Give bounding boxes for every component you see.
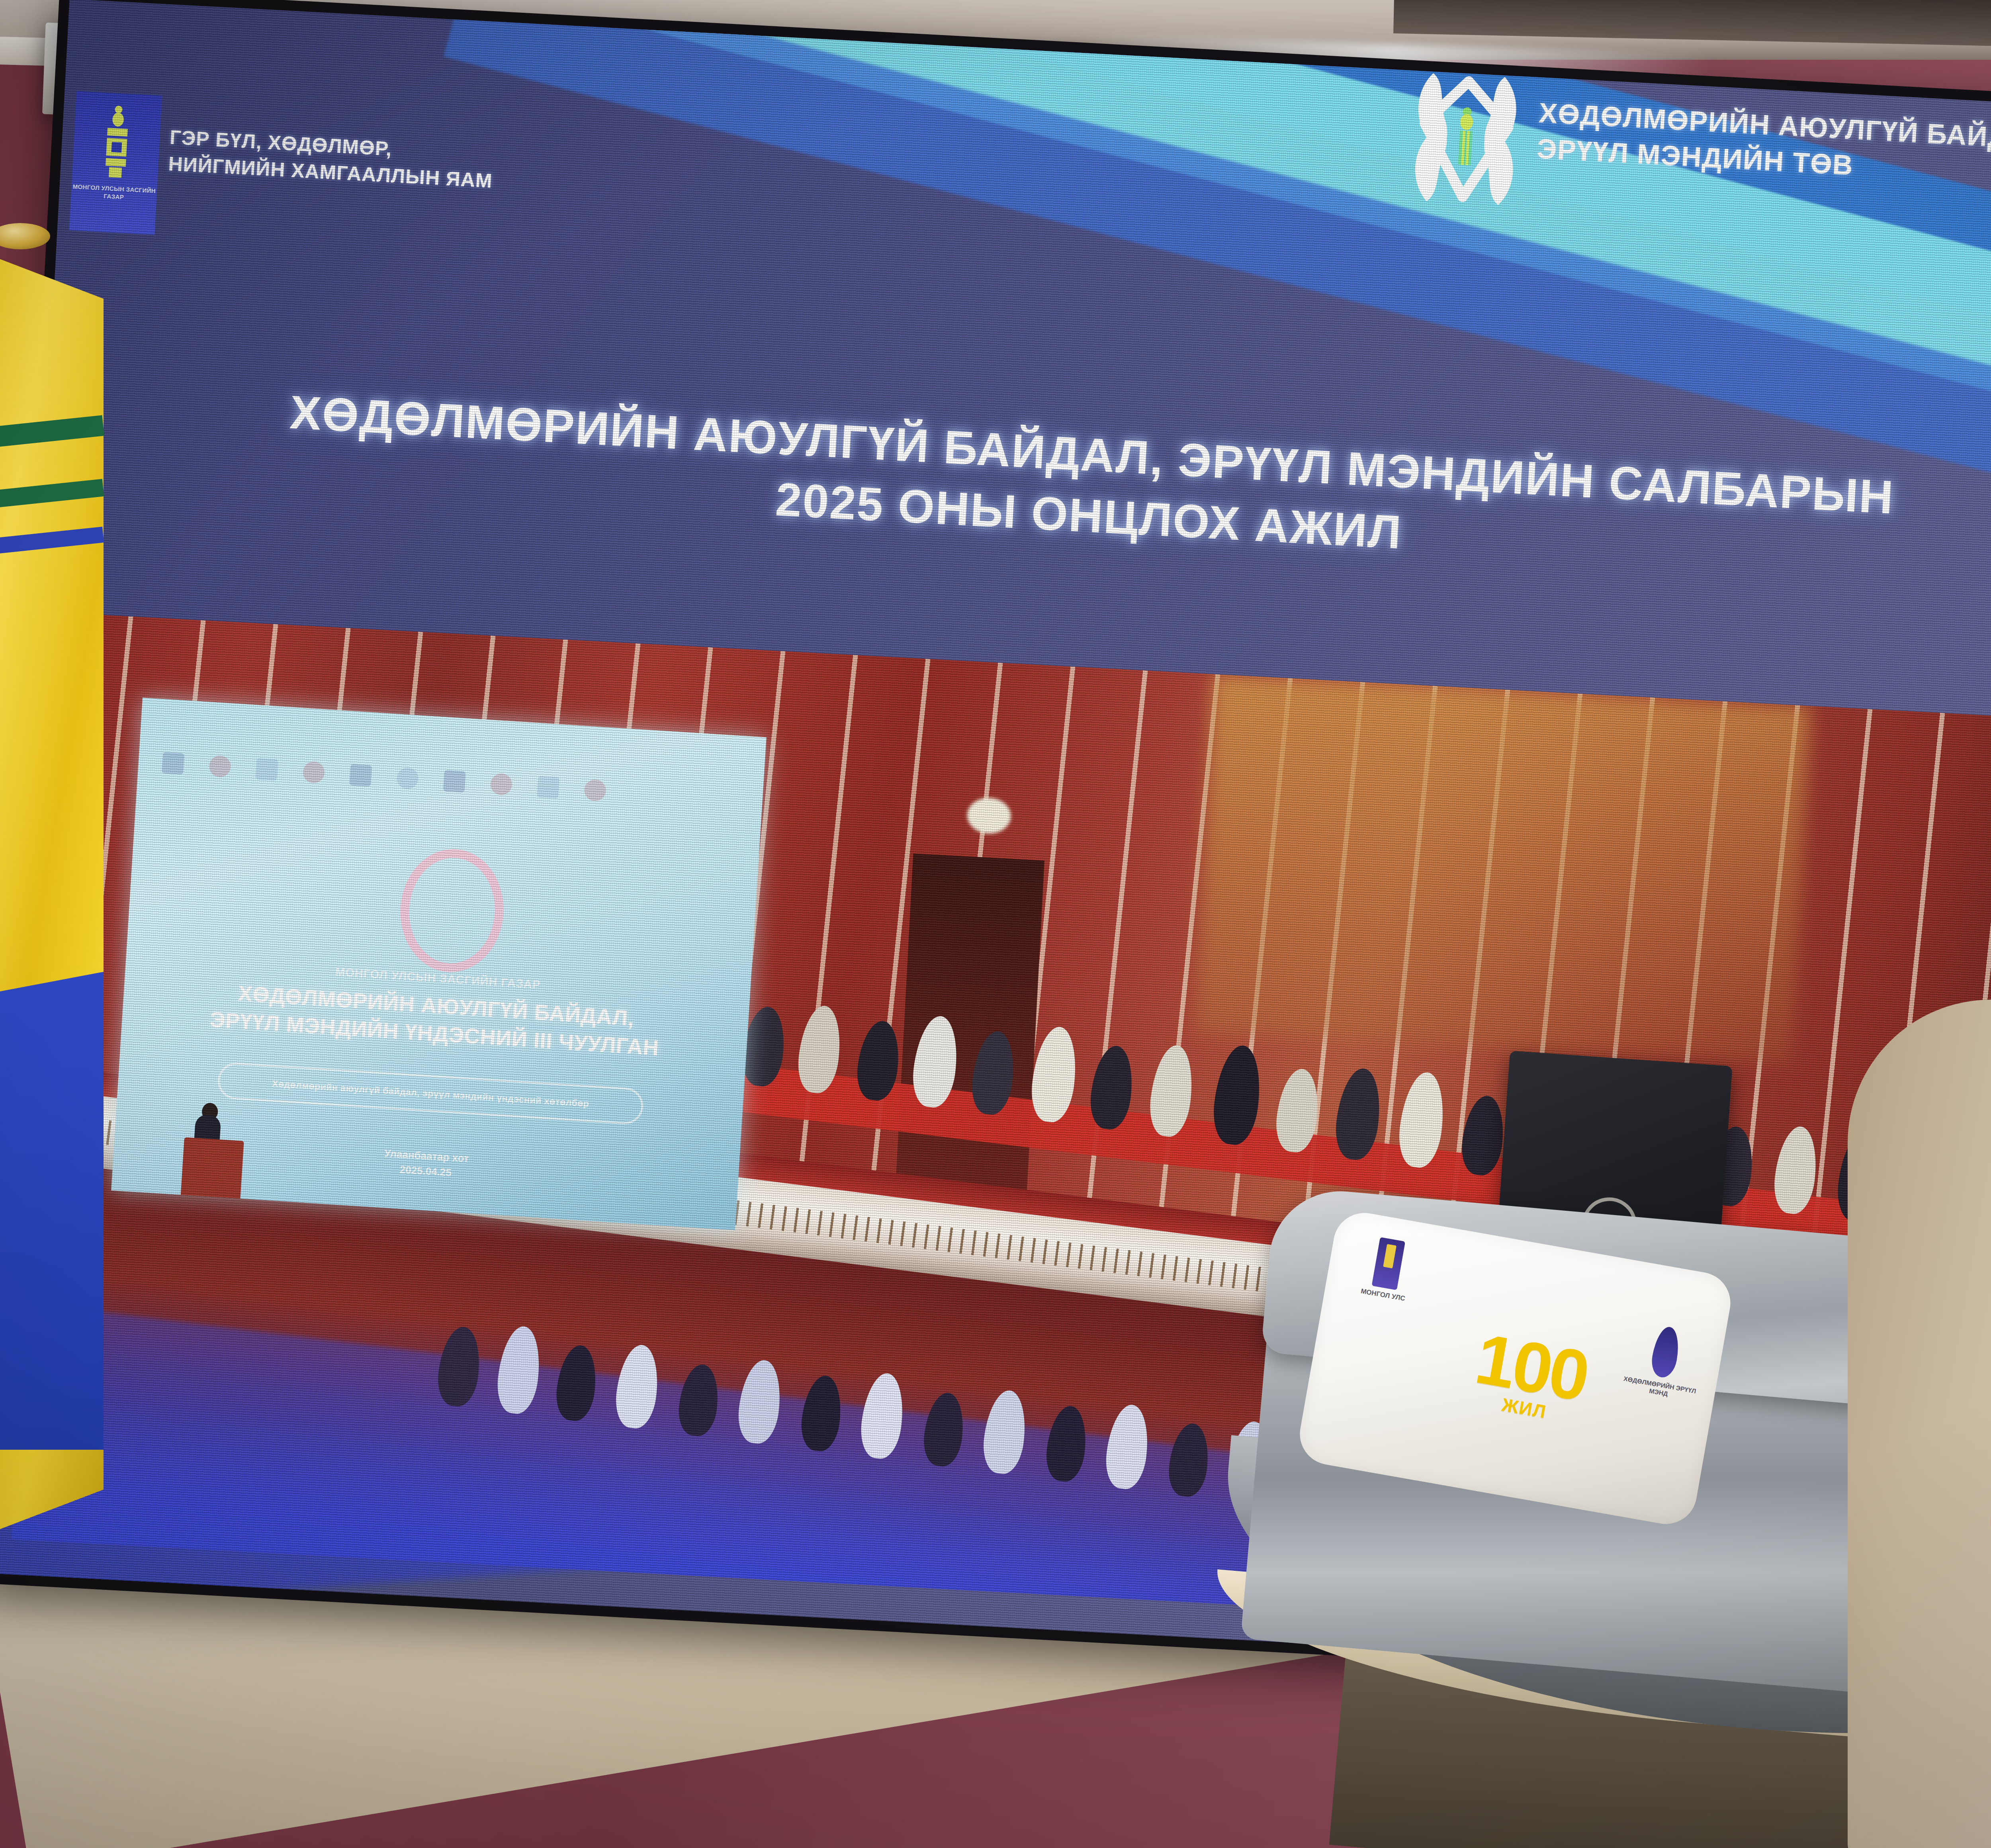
mini-slide-pill: Хөдөлмөрийн аюулгүй байдал, эрүүл мэндий… [217, 1061, 644, 1125]
mini-slide-podium [180, 1137, 244, 1200]
conference-hall-scene: ХӨДӨЛМӨРИЙН АЮУЛГҮЙ БАЙДАЛ, ЭРҮҮЛ МЭНДИЙ… [0, 0, 1991, 1848]
ministry-emblem-logo [1372, 1237, 1406, 1290]
partner-logo-7 [443, 770, 466, 793]
ohs-center-leaf-logo [1649, 1325, 1682, 1380]
partner-logo-1 [162, 752, 184, 775]
partner-logo-strip [161, 747, 731, 815]
speaker-presenter [1848, 510, 1991, 1848]
projected-slide-in-photo: МОНГОЛ УЛСЫН ЗАСГИЙН ГАЗАР ХӨДӨЛМӨРИЙН А… [111, 697, 767, 1230]
mini-slide-emblem [397, 846, 507, 975]
podium-ministry-logo: МОНГОЛ УЛС [1356, 1235, 1416, 1318]
ministry-name-text: ГЭР БҮЛ, ХӨДӨЛМӨР, НИЙГМИЙН ХАМГААЛЛЫН Я… [168, 124, 767, 209]
ministry-emblem-caption: МОНГОЛ УЛСЫН ЗАСГИЙН ГАЗАР [71, 182, 157, 203]
partner-logo-3 [256, 758, 278, 781]
ministry-emblem-badge: МОНГОЛ УЛСЫН ЗАСГИЙН ГАЗАР [69, 91, 162, 235]
ohs-center-logo [1402, 63, 1529, 216]
podium-left-logo-caption: МОНГОЛ УЛС [1359, 1287, 1407, 1303]
partner-logo-10 [584, 779, 606, 802]
anniversary-logo: 100 ЖИЛ [1439, 1321, 1621, 1431]
partner-logo-6 [396, 767, 419, 790]
speaker-suit-jacket [1848, 1000, 1991, 1848]
mini-slide-date: Улаанбаатар хот 2025.04.25 [181, 1133, 671, 1194]
podium-right-logo-caption: ХӨДӨЛМӨРИЙН ЭРҮҮЛ МЭНД [1619, 1374, 1700, 1404]
left-flag-blue-lower [0, 972, 104, 1450]
partner-logo-5 [349, 764, 372, 787]
partner-logo-2 [209, 755, 231, 777]
hall-gold-glow [1195, 674, 1811, 1064]
slide-title: ХӨДӨЛМӨРИЙН АЮУЛГҮЙ БАЙДАЛ, ЭРҮҮЛ МЭНДИЙ… [123, 373, 1991, 598]
podium-ohs-logo: ХӨДӨЛМӨРИЙН ЭРҮҮЛ МЭНД [1619, 1320, 1709, 1403]
partner-logo-4 [302, 761, 325, 783]
partner-logo-9 [537, 776, 559, 799]
partner-logo-8 [490, 773, 512, 796]
mongolia-soyombo-emblem [96, 104, 138, 181]
